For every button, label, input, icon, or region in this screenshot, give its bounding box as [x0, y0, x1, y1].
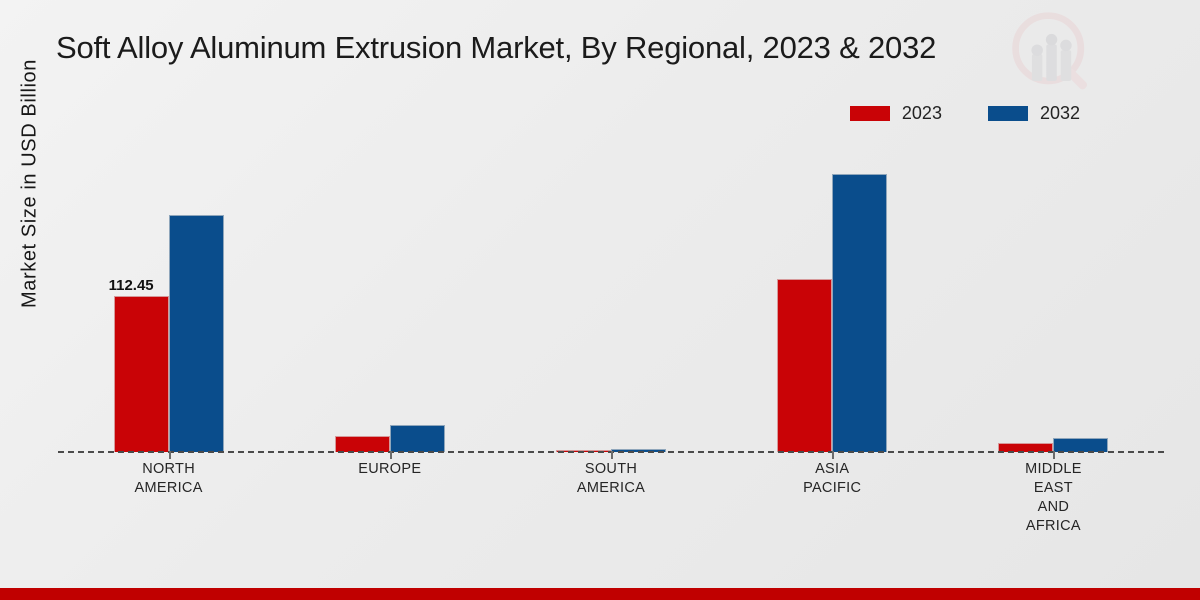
- legend-swatch-2032: [988, 106, 1028, 121]
- legend-label-2023: 2023: [902, 103, 942, 124]
- bar-2032-middle-east-and-africa[interactable]: [1053, 438, 1108, 452]
- x-axis-label-line: AMERICA: [521, 479, 701, 498]
- x-axis-label-line: SOUTH: [521, 460, 701, 479]
- x-axis-label: SOUTHAMERICA: [521, 460, 701, 498]
- legend-item-2023[interactable]: 2023: [850, 103, 942, 124]
- bar-2032-north-america[interactable]: [169, 215, 224, 452]
- bar-group: [279, 140, 500, 452]
- x-axis-label-line: AFRICA: [963, 517, 1143, 536]
- x-axis-tick: [390, 451, 392, 459]
- x-axis-label: EUROPE: [300, 460, 480, 479]
- x-axis-label: NORTHAMERICA: [79, 460, 259, 498]
- bar-group: [722, 140, 943, 452]
- bar-group: [500, 140, 721, 452]
- chart-canvas: Soft Alloy Aluminum Extrusion Market, By…: [0, 0, 1200, 600]
- legend-item-2032[interactable]: 2032: [988, 103, 1080, 124]
- plot-area: [58, 140, 1164, 452]
- x-axis-label-line: EUROPE: [300, 460, 480, 479]
- x-axis-label-line: AND: [963, 498, 1143, 517]
- x-axis-label-line: PACIFIC: [742, 479, 922, 498]
- bar-2023-asia-pacific[interactable]: [777, 279, 832, 452]
- bar-data-label: 112.45: [109, 277, 154, 294]
- x-axis-label-line: NORTH: [79, 460, 259, 479]
- bar-group: [943, 140, 1164, 452]
- x-axis-label-line: EAST: [963, 479, 1143, 498]
- bar-2032-asia-pacific[interactable]: [832, 174, 887, 452]
- x-axis-tick: [832, 451, 834, 459]
- x-axis-tick: [169, 451, 171, 459]
- bar-2032-europe[interactable]: [390, 425, 445, 452]
- watermark-logo-icon: [1005, 8, 1101, 104]
- bar-2023-north-america[interactable]: [114, 296, 169, 452]
- x-axis-tick: [1053, 451, 1055, 459]
- x-axis-label-line: MIDDLE: [963, 460, 1143, 479]
- y-axis-title: Market Size in USD Billion: [19, 6, 42, 362]
- footer-accent-band: [0, 588, 1200, 600]
- x-axis-label-line: AMERICA: [79, 479, 259, 498]
- bar-group: [58, 140, 279, 452]
- legend-swatch-2023: [850, 106, 890, 121]
- x-axis-label-line: ASIA: [742, 460, 922, 479]
- bar-2023-europe[interactable]: [335, 436, 390, 452]
- chart-title: Soft Alloy Aluminum Extrusion Market, By…: [56, 30, 936, 66]
- legend-label-2032: 2032: [1040, 103, 1080, 124]
- x-axis-label: ASIAPACIFIC: [742, 460, 922, 498]
- chart-legend: 2023 2032: [850, 103, 1080, 124]
- x-axis-tick: [611, 451, 613, 459]
- x-axis-label: MIDDLEEASTANDAFRICA: [963, 460, 1143, 536]
